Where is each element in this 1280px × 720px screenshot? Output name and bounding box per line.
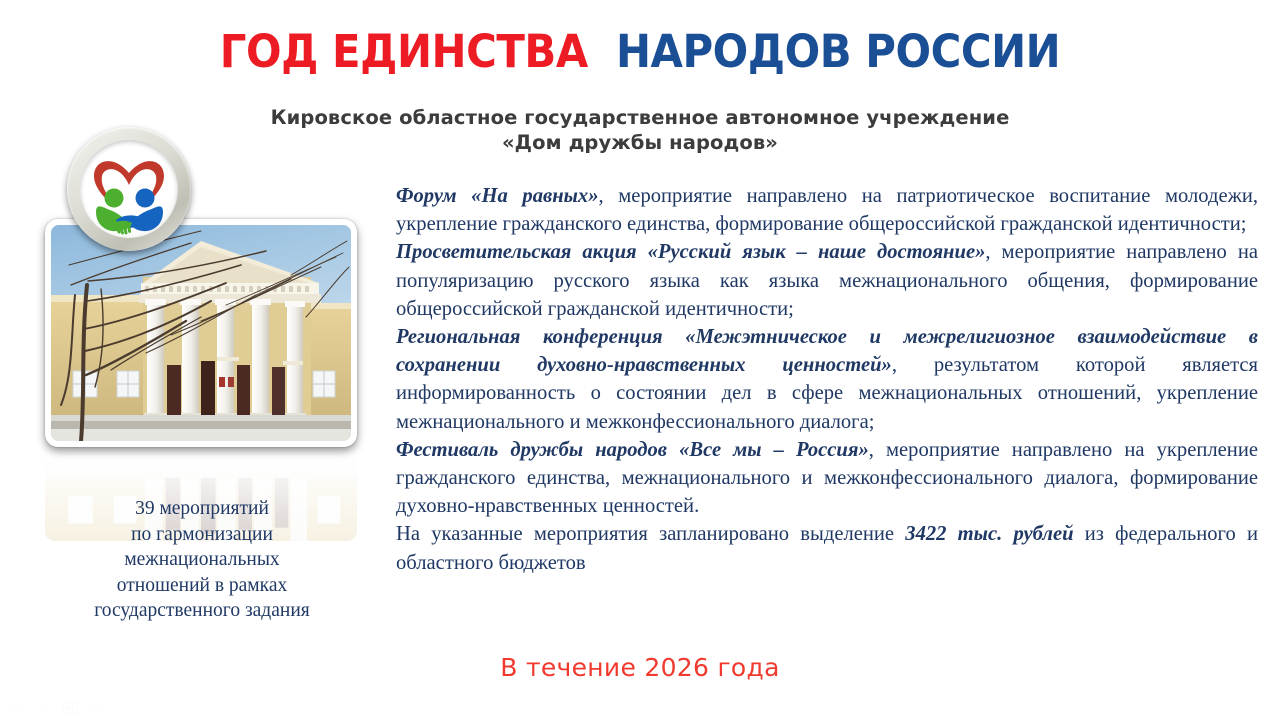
pen-icon[interactable] xyxy=(35,700,52,715)
building-photo-frame xyxy=(45,219,357,447)
event-title-festival: Фестиваль дружбы народов «Все мы – Росси… xyxy=(396,439,869,461)
organization-subtitle-line1: Кировское областное государственное авто… xyxy=(271,106,1010,129)
all-slides-icon[interactable] xyxy=(62,700,79,715)
events-count-caption-line4: отношений в рамках xyxy=(30,573,374,599)
organization-subtitle-line2: «Дом дружбы народов» xyxy=(190,130,1090,155)
event-title-forum: Форум «На равных» xyxy=(396,185,599,207)
organization-logo-icon xyxy=(80,140,178,238)
events-count-caption-line1: 39 мероприятий xyxy=(30,496,374,522)
previous-slide-icon[interactable] xyxy=(8,700,25,715)
events-count-caption-line2: по гармонизации xyxy=(30,522,374,548)
presentation-slide: ГОД ЕДИНСТВА НАРОДОВ РОССИИ Кировское об… xyxy=(0,0,1280,720)
events-description-body: Форум «На равных», мероприятие направлен… xyxy=(396,182,1258,577)
next-slide-icon[interactable] xyxy=(89,700,106,715)
organization-subtitle: Кировское областное государственное авто… xyxy=(190,105,1090,155)
event-paragraph-conference: Региональная конференция «Межэтническое … xyxy=(396,323,1258,436)
building-photo xyxy=(51,225,351,441)
timeframe-note: В течение 2026 года xyxy=(0,653,1280,682)
events-count-caption-line3: межнациональных xyxy=(30,547,374,573)
presenter-controls-bar[interactable] xyxy=(8,700,106,715)
event-paragraph-forum: Форум «На равных», мероприятие направлен… xyxy=(396,182,1258,238)
events-count-caption: 39 мероприятий по гармонизации межнацион… xyxy=(30,496,374,624)
event-paragraph-action: Просветительская акция «Русский язык – н… xyxy=(396,238,1258,323)
event-title-action: Просветительская акция «Русский язык – н… xyxy=(396,241,985,263)
slide-title-red: ГОД ЕДИНСТВА xyxy=(220,25,588,78)
slide-title: ГОД ЕДИНСТВА НАРОДОВ РОССИИ xyxy=(45,28,1235,75)
slide-title-blue: НАРОДОВ РОССИИ xyxy=(616,25,1060,78)
event-paragraph-festival: Фестиваль дружбы народов «Все мы – Росси… xyxy=(396,436,1258,521)
events-count-caption-line5: государственного задания xyxy=(30,598,374,624)
budget-prefix: На указанные мероприятия запланировано в… xyxy=(396,523,905,545)
organization-logo-badge xyxy=(67,127,191,251)
budget-paragraph: На указанные мероприятия запланировано в… xyxy=(396,520,1258,576)
budget-amount: 3422 тыс. рублей xyxy=(905,523,1073,545)
